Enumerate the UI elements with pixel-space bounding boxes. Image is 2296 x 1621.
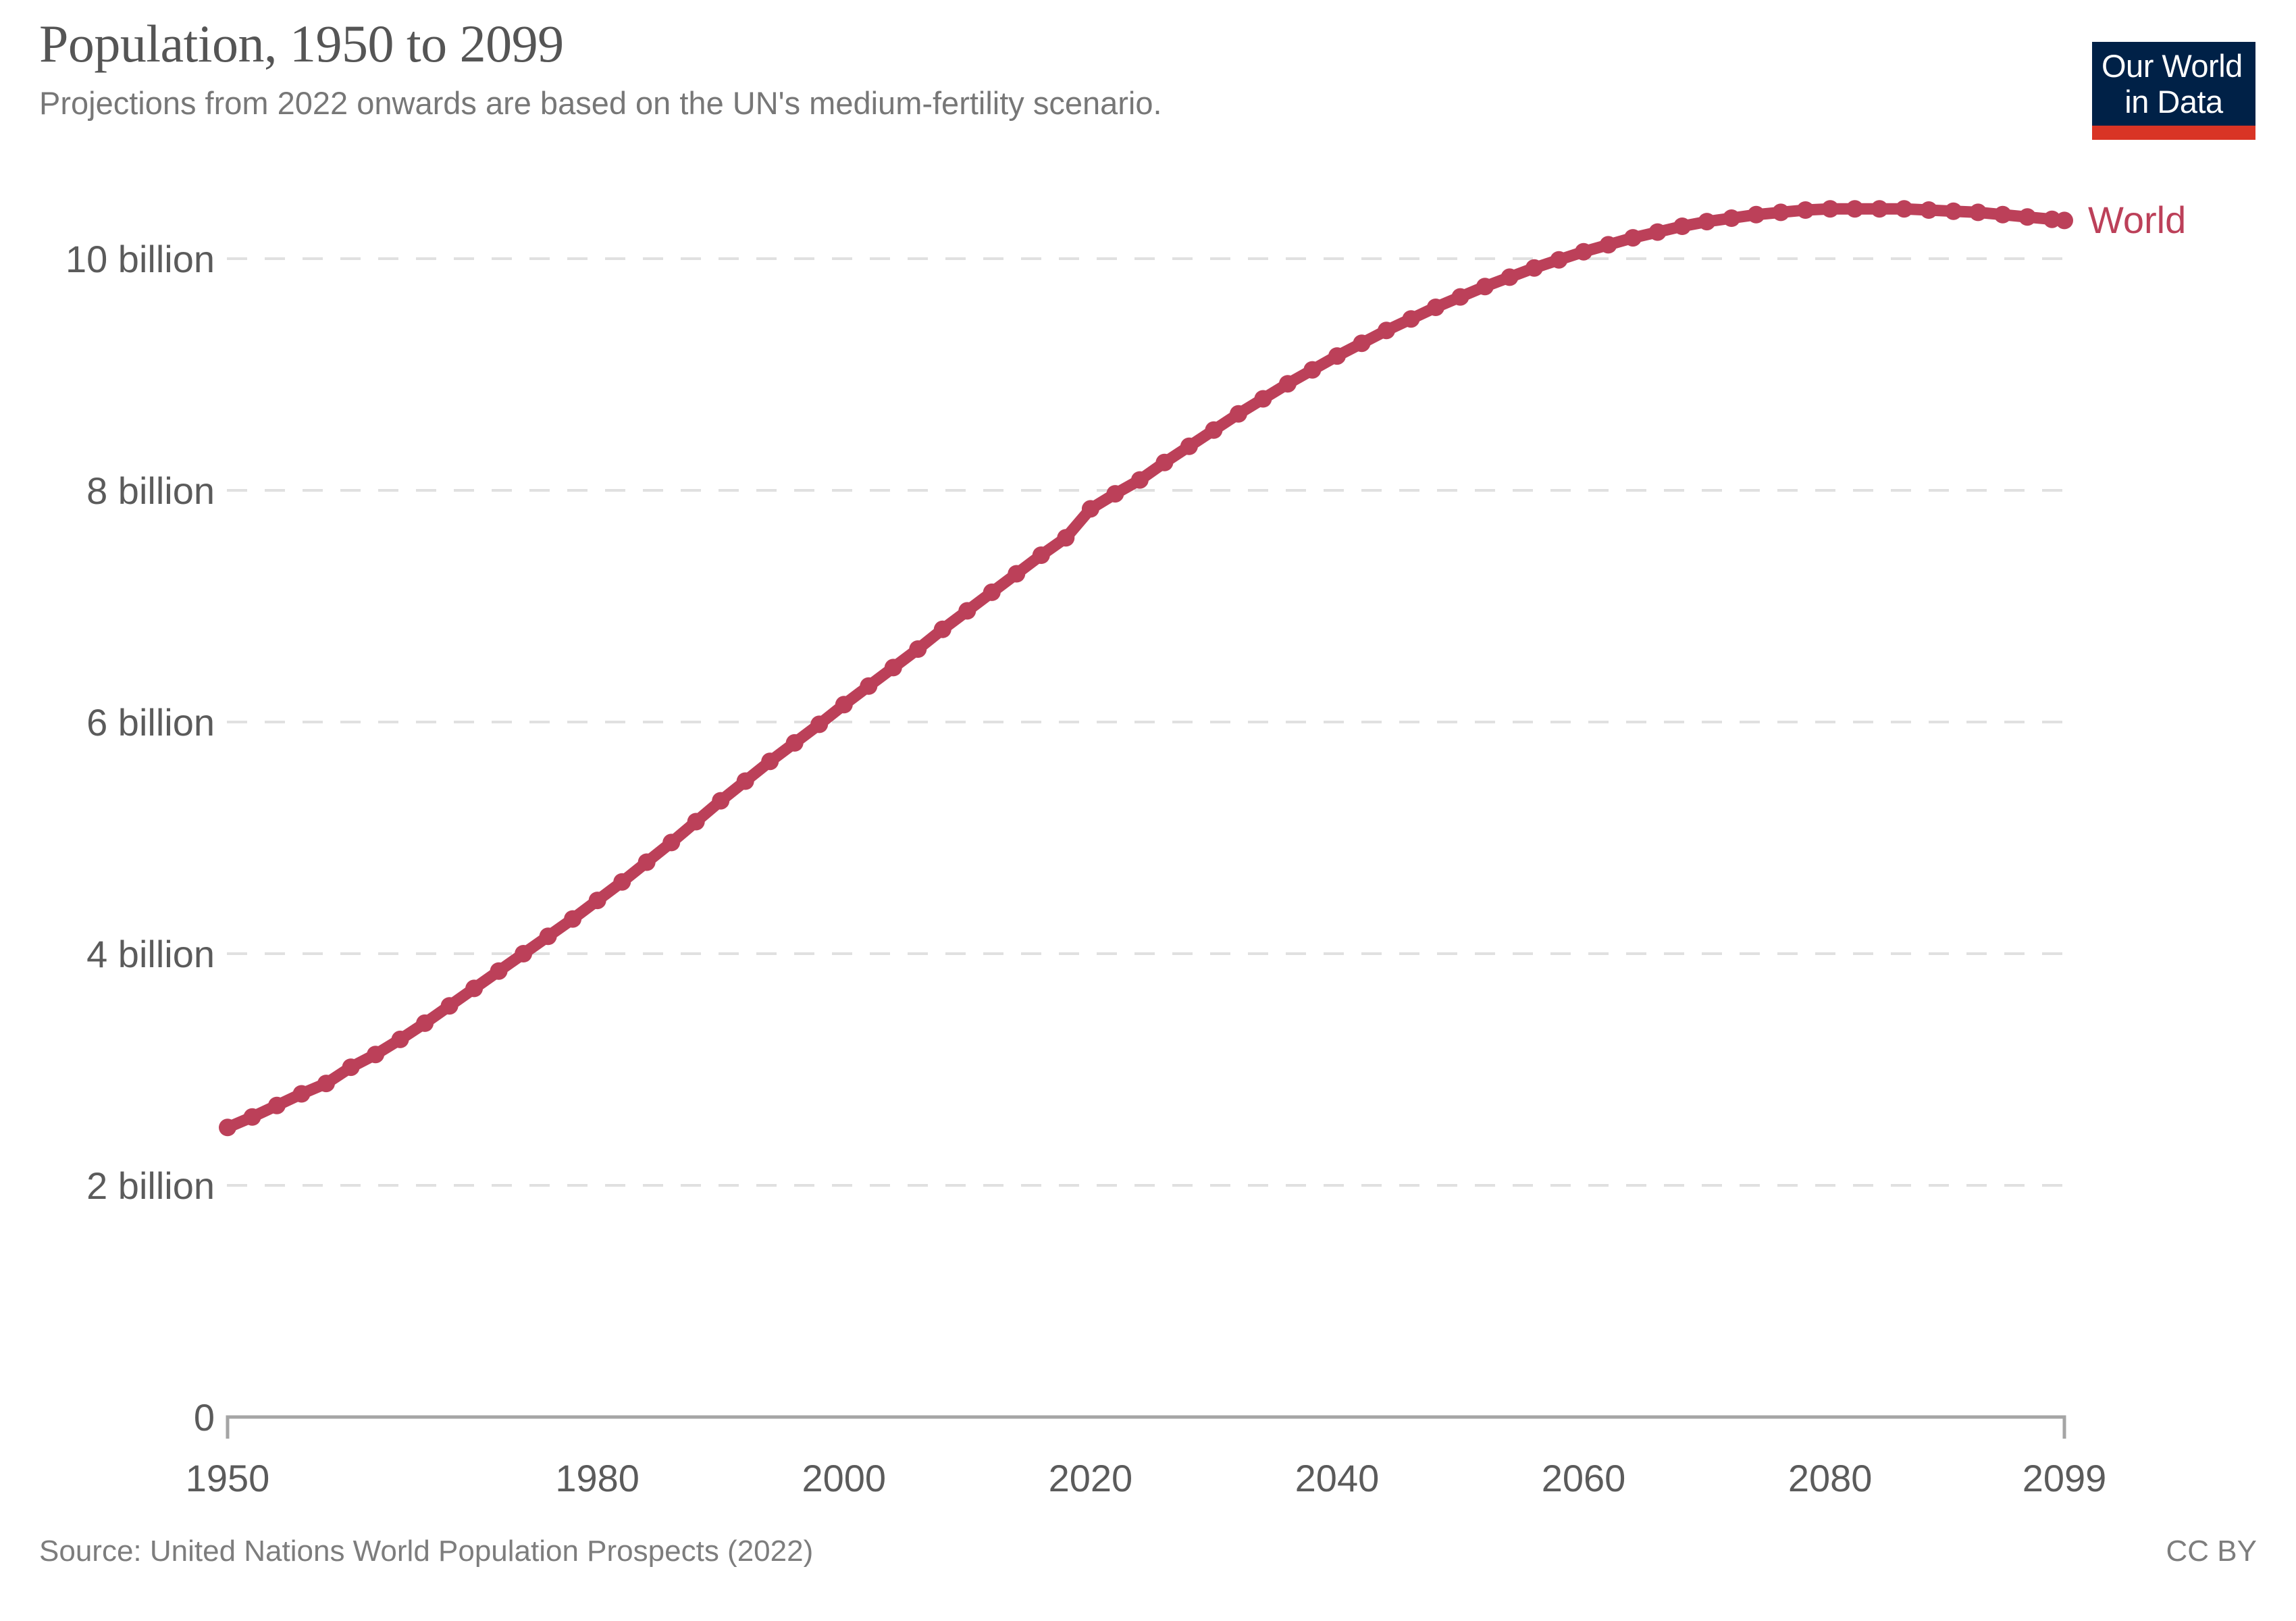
series-point[interactable]	[1279, 375, 1297, 392]
series-point[interactable]	[1303, 361, 1321, 379]
series-group[interactable]	[219, 200, 2073, 1136]
series-point[interactable]	[1452, 288, 1469, 306]
series-point[interactable]	[2056, 211, 2073, 229]
license-note: CC BY	[2166, 1535, 2257, 1568]
series-point[interactable]	[835, 696, 853, 713]
series-point[interactable]	[1945, 203, 1962, 220]
series-point[interactable]	[1994, 206, 2012, 224]
series-point[interactable]	[1871, 200, 1888, 217]
y-tick-label-zero: 0	[194, 1396, 215, 1439]
series-point[interactable]	[1254, 390, 1272, 408]
y-axis-labels-group: 2 billion4 billion6 billion8 billion10 b…	[66, 238, 215, 1439]
series-point[interactable]	[342, 1058, 360, 1076]
y-tick-label-6: 6 billion	[86, 701, 215, 744]
x-tick-label-2000: 2000	[802, 1457, 886, 1499]
series-point[interactable]	[1057, 529, 1074, 546]
x-axis-line	[228, 1417, 2064, 1439]
series-point[interactable]	[1624, 229, 1642, 247]
series-point[interactable]	[1896, 200, 1913, 217]
x-axis-labels-group: 19501980200020202040206020802099	[186, 1457, 2107, 1499]
series-point[interactable]	[958, 602, 976, 619]
series-point[interactable]	[885, 659, 902, 676]
series-point[interactable]	[1180, 438, 1198, 455]
series-point[interactable]	[1403, 310, 1420, 328]
series-point[interactable]	[515, 945, 532, 962]
x-axis-group	[228, 1417, 2064, 1439]
series-point[interactable]	[1550, 251, 1568, 269]
series-point[interactable]	[1476, 278, 1494, 295]
series-point[interactable]	[317, 1075, 335, 1092]
y-tick-label-2: 2 billion	[86, 1164, 215, 1207]
series-point[interactable]	[1230, 405, 1247, 423]
series-point[interactable]	[1969, 203, 1987, 221]
series-point[interactable]	[1772, 203, 1790, 221]
gridlines-group	[227, 259, 2064, 1185]
series-point[interactable]	[1106, 485, 1124, 503]
series-point[interactable]	[909, 640, 927, 658]
x-tick-label-2020: 2020	[1049, 1457, 1133, 1499]
y-tick-label-4: 4 billion	[86, 933, 215, 975]
series-point[interactable]	[662, 833, 680, 851]
series-point[interactable]	[1846, 200, 1864, 217]
series-point[interactable]	[465, 979, 483, 997]
series-point[interactable]	[1698, 213, 1716, 230]
series-point[interactable]	[589, 892, 606, 909]
series-point[interactable]	[416, 1014, 434, 1032]
series-point[interactable]	[1082, 500, 1099, 517]
x-tick-label-1950: 1950	[186, 1457, 270, 1499]
series-point[interactable]	[1008, 565, 1025, 583]
series-line-world[interactable]	[228, 209, 2064, 1127]
x-tick-label-2099: 2099	[2023, 1457, 2107, 1499]
series-point[interactable]	[1748, 206, 1765, 224]
series-point[interactable]	[737, 773, 754, 790]
series-point[interactable]	[786, 734, 804, 752]
series-point[interactable]	[638, 854, 656, 871]
series-point[interactable]	[712, 792, 729, 810]
series-point[interactable]	[1723, 209, 1740, 227]
series-point[interactable]	[687, 813, 705, 831]
line-chart-svg: 2 billion4 billion6 billion8 billion10 b…	[0, 0, 2296, 1621]
series-point[interactable]	[490, 962, 508, 980]
series-point[interactable]	[1353, 334, 1371, 352]
series-point[interactable]	[1131, 471, 1149, 489]
series-point[interactable]	[367, 1046, 384, 1063]
series-point[interactable]	[1155, 454, 1173, 471]
source-note: Source: United Nations World Population …	[39, 1535, 813, 1568]
series-point[interactable]	[564, 910, 581, 928]
series-point[interactable]	[1600, 236, 1617, 253]
series-point[interactable]	[860, 677, 877, 695]
series-point[interactable]	[761, 752, 779, 770]
series-point[interactable]	[1427, 299, 1444, 316]
series-point[interactable]	[613, 873, 631, 891]
series-point[interactable]	[540, 927, 557, 945]
series-point[interactable]	[1649, 224, 1667, 241]
chart-plot-area[interactable]: 2 billion4 billion6 billion8 billion10 b…	[0, 0, 2296, 1621]
series-point[interactable]	[268, 1097, 286, 1114]
y-tick-label-10: 10 billion	[66, 238, 215, 280]
series-point[interactable]	[1525, 259, 1543, 277]
series-point[interactable]	[1575, 243, 1592, 261]
series-label-world: World	[2088, 199, 2186, 241]
series-point[interactable]	[1378, 321, 1395, 339]
series-point[interactable]	[1821, 200, 1839, 217]
x-tick-label-2060: 2060	[1542, 1457, 1626, 1499]
series-point[interactable]	[1673, 217, 1691, 235]
series-point[interactable]	[983, 584, 1001, 601]
series-point[interactable]	[219, 1118, 236, 1136]
series-labels-group: World	[2088, 199, 2186, 241]
series-point[interactable]	[934, 621, 951, 638]
x-tick-label-2040: 2040	[1295, 1457, 1380, 1499]
series-point[interactable]	[392, 1031, 409, 1048]
series-point[interactable]	[2018, 208, 2036, 226]
series-point[interactable]	[1797, 201, 1815, 219]
series-point[interactable]	[244, 1108, 261, 1126]
x-tick-label-2080: 2080	[1788, 1457, 1873, 1499]
series-point[interactable]	[1328, 347, 1346, 365]
series-point[interactable]	[1033, 546, 1050, 564]
series-point[interactable]	[293, 1085, 311, 1103]
series-point[interactable]	[810, 715, 828, 733]
series-point[interactable]	[1501, 268, 1519, 286]
y-tick-label-8: 8 billion	[86, 469, 215, 512]
x-tick-label-1980: 1980	[555, 1457, 640, 1499]
series-point[interactable]	[1205, 421, 1222, 439]
series-point[interactable]	[1920, 201, 1937, 219]
series-point[interactable]	[441, 997, 459, 1014]
